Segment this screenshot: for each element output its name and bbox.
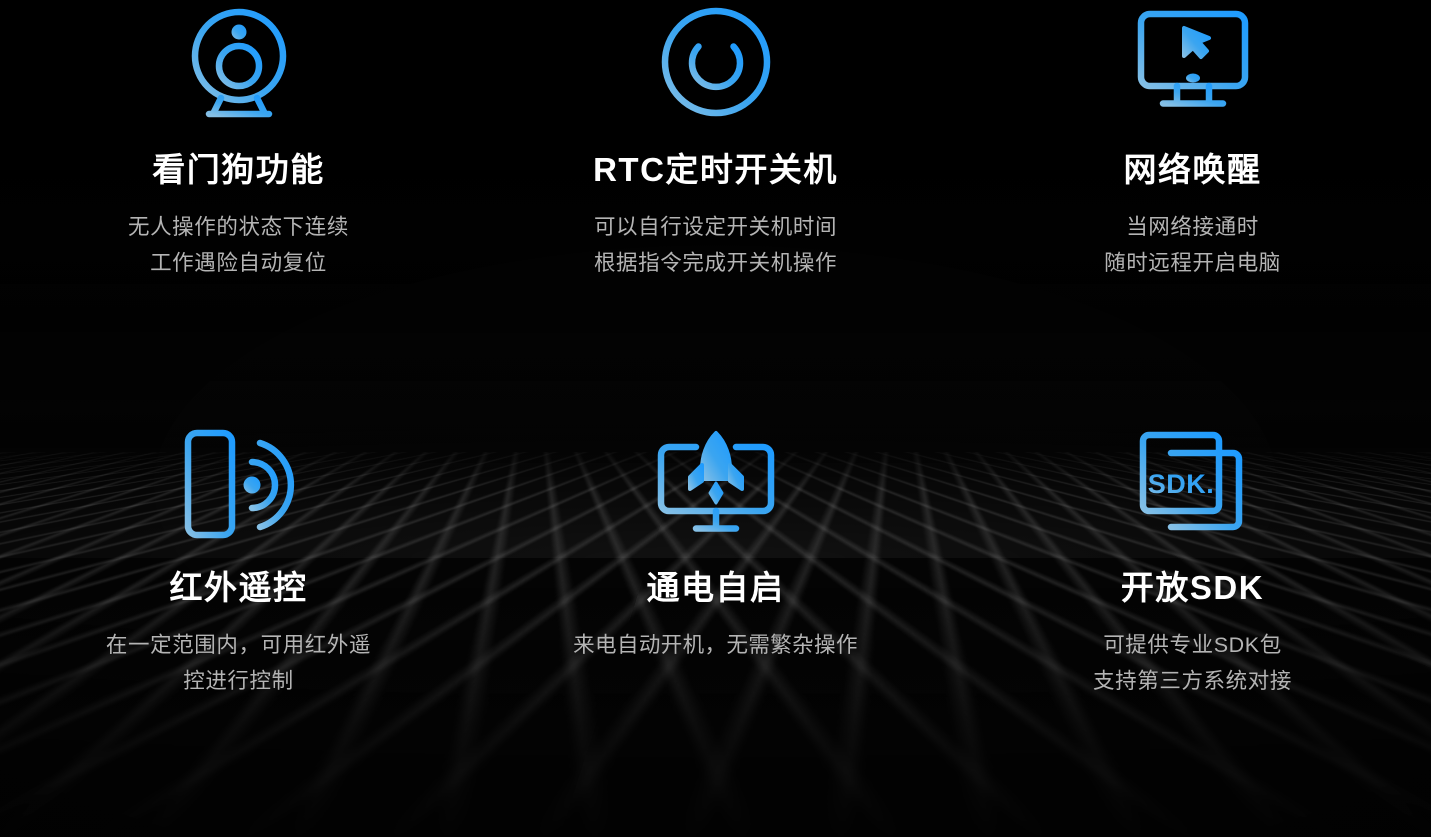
feature-card-open-sdk[interactable]: SDK. 开放SDK 可提供专业SDK包 支持第三方系统对接 <box>954 422 1431 837</box>
feature-description-line: 在一定范围内，可用红外遥 <box>106 628 371 664</box>
feature-title: 红外遥控 <box>170 570 308 606</box>
remote-signal-icon <box>174 422 304 546</box>
feature-description: 在一定范围内，可用红外遥 控进行控制 <box>106 628 371 699</box>
feature-card-power-auto-start[interactable]: 通电自启 来电自动开机，无需繁杂操作 <box>477 422 954 837</box>
feature-title: RTC定时开关机 <box>593 152 838 188</box>
power-icon <box>651 0 781 124</box>
feature-title: 网络唤醒 <box>1124 152 1262 188</box>
feature-grid-page: 看门狗功能 无人操作的状态下连续 工作遇险自动复位 RTC定时开关机 可以自行设… <box>0 0 1431 837</box>
feature-description: 无人操作的状态下连续 工作遇险自动复位 <box>128 210 349 281</box>
feature-card-ir-remote[interactable]: 红外遥控 在一定范围内，可用红外遥 控进行控制 <box>0 422 477 837</box>
feature-description-line: 工作遇险自动复位 <box>128 246 349 282</box>
feature-description-line: 来电自动开机，无需繁杂操作 <box>573 628 858 664</box>
feature-description: 来电自动开机，无需繁杂操作 <box>573 628 858 664</box>
feature-description-line: 当网络接通时 <box>1104 210 1281 246</box>
feature-card-rtc-timer[interactable]: RTC定时开关机 可以自行设定开关机时间 根据指令完成开关机操作 <box>477 0 954 422</box>
feature-description: 可以自行设定开关机时间 根据指令完成开关机操作 <box>594 210 837 281</box>
monitor-play-icon <box>1128 0 1258 124</box>
feature-description-line: 支持第三方系统对接 <box>1093 664 1292 700</box>
feature-title: 开放SDK <box>1121 570 1264 606</box>
feature-description-line: 控进行控制 <box>106 664 371 700</box>
feature-card-wake-on-lan[interactable]: 网络唤醒 当网络接通时 随时远程开启电脑 <box>954 0 1431 422</box>
features-grid: 看门狗功能 无人操作的状态下连续 工作遇险自动复位 RTC定时开关机 可以自行设… <box>0 0 1431 837</box>
feature-description-line: 随时远程开启电脑 <box>1104 246 1281 282</box>
feature-description: 当网络接通时 随时远程开启电脑 <box>1104 210 1281 281</box>
sdk-icon-label: SDK. <box>1147 469 1214 499</box>
feature-description-line: 可提供专业SDK包 <box>1093 628 1292 664</box>
feature-description-line: 无人操作的状态下连续 <box>128 210 349 246</box>
monitor-rocket-icon <box>651 422 781 546</box>
feature-title: 通电自启 <box>647 570 785 606</box>
feature-description-line: 可以自行设定开关机时间 <box>594 210 837 246</box>
webcam-icon <box>174 0 304 124</box>
feature-description-line: 根据指令完成开关机操作 <box>594 246 837 282</box>
feature-description: 可提供专业SDK包 支持第三方系统对接 <box>1093 628 1292 699</box>
feature-card-watchdog[interactable]: 看门狗功能 无人操作的状态下连续 工作遇险自动复位 <box>0 0 477 422</box>
sdk-windows-icon: SDK. <box>1128 422 1258 546</box>
feature-title: 看门狗功能 <box>152 152 325 188</box>
